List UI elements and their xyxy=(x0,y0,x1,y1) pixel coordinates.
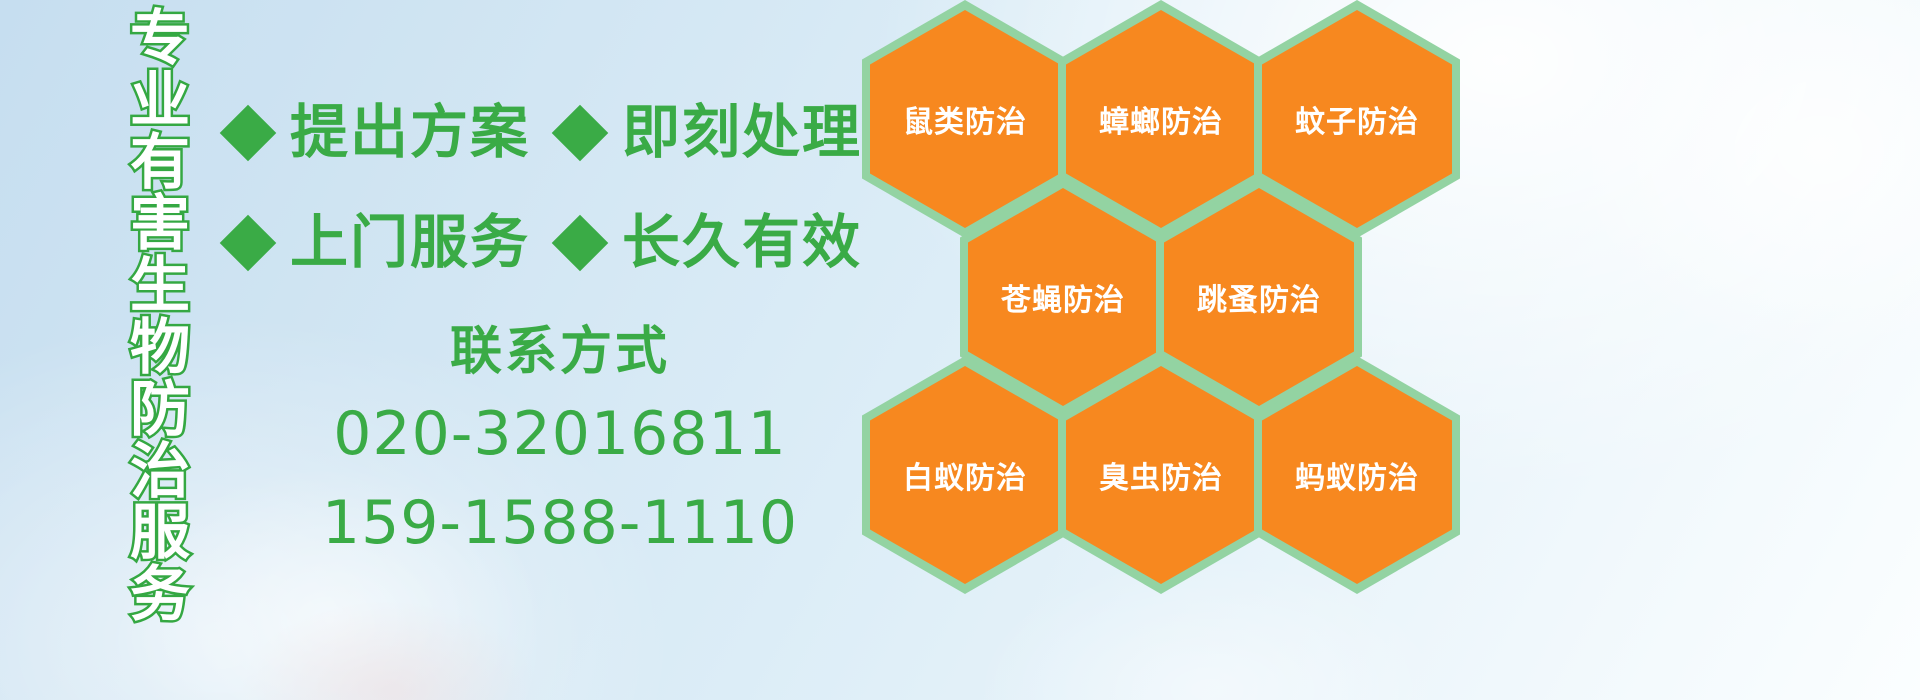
hex-label: 蚂蚁防治 xyxy=(1295,453,1419,497)
hex-label: 蚊子防治 xyxy=(1295,97,1419,141)
vertical-headline-char: 业 xyxy=(118,70,202,132)
phone-landline[interactable]: 020-32016811 xyxy=(300,395,820,474)
vertical-headline-char: 物 xyxy=(118,317,202,379)
hex-label: 蟑螂防治 xyxy=(1099,97,1223,141)
feature-item-proposal: 提出方案 xyxy=(228,104,530,162)
vertical-headline: 专 业 有 害 生 物 防 治 服 务 xyxy=(112,8,208,568)
hex-face: 蚂蚁防治 xyxy=(1262,366,1452,584)
diamond-bullet-icon xyxy=(552,215,609,272)
background-haze-pink xyxy=(240,600,540,700)
contact-title: 联系方式 xyxy=(300,320,820,385)
feature-item-onsite: 上门服务 xyxy=(228,214,530,272)
diamond-bullet-icon xyxy=(552,105,609,162)
service-honeycomb: 鼠类防治 蟑螂防治 蚊子防治 苍蝇防治 跳蚤防治 白蚁防 xyxy=(862,0,1462,700)
feature-item-immediate: 即刻处理 xyxy=(560,104,862,162)
hex-face: 跳蚤防治 xyxy=(1164,188,1354,406)
vertical-headline-char: 有 xyxy=(118,132,202,194)
feature-item-longlasting: 长久有效 xyxy=(560,214,862,272)
hex-label: 跳蚤防治 xyxy=(1197,275,1321,319)
vertical-headline-char: 务 xyxy=(118,564,202,626)
contact-block: 联系方式 020-32016811 159-1588-1110 xyxy=(300,320,820,563)
feature-row: 提出方案 即刻处理 xyxy=(228,78,868,188)
feature-label: 上门服务 xyxy=(290,214,530,272)
hex-label: 鼠类防治 xyxy=(903,97,1027,141)
hex-face: 鼠类防治 xyxy=(870,10,1060,228)
feature-label: 提出方案 xyxy=(290,104,530,162)
vertical-headline-char: 治 xyxy=(118,441,202,503)
diamond-bullet-icon xyxy=(220,215,277,272)
hex-face: 蚊子防治 xyxy=(1262,10,1452,228)
vertical-headline-char: 害 xyxy=(118,193,202,255)
feature-label: 即刻处理 xyxy=(622,104,862,162)
feature-list: 提出方案 即刻处理 上门服务 长久有效 xyxy=(228,78,868,298)
diamond-bullet-icon xyxy=(220,105,277,162)
hex-face: 臭虫防治 xyxy=(1066,366,1256,584)
hex-label: 臭虫防治 xyxy=(1099,453,1223,497)
vertical-headline-char: 服 xyxy=(118,502,202,564)
vertical-headline-char: 防 xyxy=(118,379,202,441)
hex-face: 蟑螂防治 xyxy=(1066,10,1256,228)
feature-row: 上门服务 长久有效 xyxy=(228,188,868,298)
hex-face: 苍蝇防治 xyxy=(968,188,1158,406)
vertical-headline-char: 专 xyxy=(118,8,202,70)
feature-label: 长久有效 xyxy=(622,214,862,272)
background-haze-top-right xyxy=(1560,0,1920,360)
hex-face: 白蚁防治 xyxy=(870,366,1060,584)
pest-control-banner: 专 业 有 害 生 物 防 治 服 务 提出方案 即刻处理 上门服务 xyxy=(0,0,1920,700)
vertical-headline-char: 生 xyxy=(118,255,202,317)
hex-label: 苍蝇防治 xyxy=(1001,275,1125,319)
phone-mobile[interactable]: 159-1588-1110 xyxy=(300,484,820,563)
hex-label: 白蚁防治 xyxy=(903,453,1027,497)
